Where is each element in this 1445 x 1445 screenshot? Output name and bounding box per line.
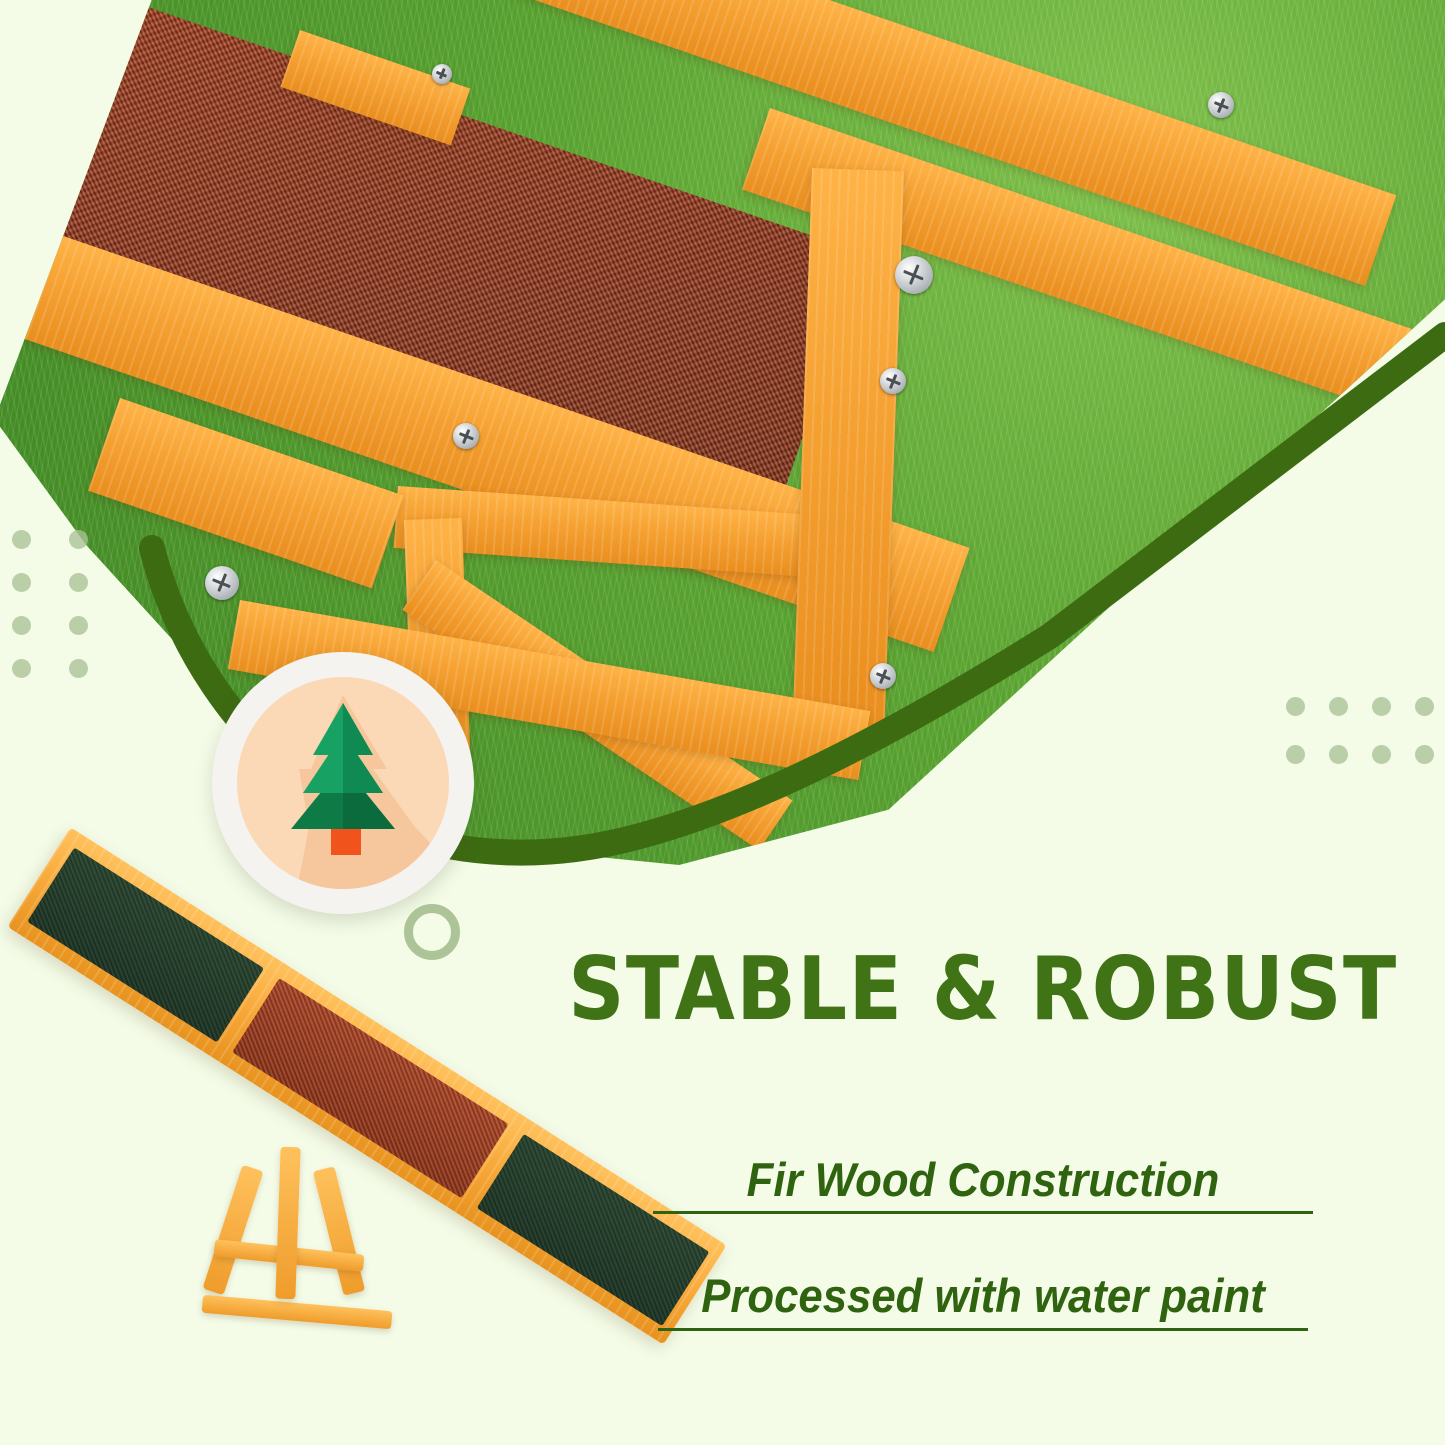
decorative-dot: [1329, 745, 1348, 764]
subheading-2-wrap: Processed with water paint: [552, 1270, 1414, 1331]
subheading-fir-wood: Fir Wood Construction: [582, 1154, 1384, 1207]
decorative-dot: [69, 530, 88, 549]
headline: STABLE & ROBUST: [552, 946, 1414, 1035]
screw-icon: [1208, 92, 1234, 118]
dot-grid-left: [12, 530, 126, 702]
decorative-dot: [12, 573, 31, 592]
screw-icon: [895, 256, 933, 294]
trestle-leg-right: [313, 1166, 365, 1296]
anti-slip-pad-red-center: [232, 978, 509, 1198]
decorative-dot: [1286, 745, 1305, 764]
dot-grid-right: [1286, 697, 1445, 793]
decorative-dot: [1372, 745, 1391, 764]
screw-icon: [870, 663, 896, 689]
trestle-foot-bar: [202, 1295, 393, 1329]
anti-slip-pad-green-left: [27, 847, 264, 1042]
screw-icon: [432, 64, 452, 84]
subheading-1-underline: [653, 1211, 1313, 1214]
decorative-dot: [1415, 697, 1434, 716]
decorative-dot: [12, 530, 31, 549]
product-feature-panel: STABLE & ROBUST Fir Wood Construction Pr…: [0, 0, 1445, 1445]
decorative-dot: [1415, 745, 1434, 764]
trestle-apex-post: [275, 1147, 300, 1300]
trestle-leg-left: [202, 1165, 263, 1295]
subheading-2-underline: [658, 1328, 1308, 1331]
decorative-dot: [69, 659, 88, 678]
decorative-dot: [12, 659, 31, 678]
copy-block: STABLE & ROBUST Fir Wood Construction Pr…: [552, 946, 1414, 1331]
decorative-dot: [12, 616, 31, 635]
decorative-dot: [1329, 697, 1348, 716]
vertical-support-post: [792, 168, 903, 731]
decorative-dot: [1372, 697, 1391, 716]
screw-icon: [453, 423, 479, 449]
subheading-1-wrap: Fir Wood Construction: [552, 1154, 1414, 1215]
decorative-dot: [69, 573, 88, 592]
decorative-dot: [1286, 697, 1305, 716]
screw-icon: [205, 566, 239, 600]
subheading-water-paint: Processed with water paint: [582, 1270, 1384, 1323]
screw-icon: [880, 368, 906, 394]
decorative-dot: [69, 616, 88, 635]
